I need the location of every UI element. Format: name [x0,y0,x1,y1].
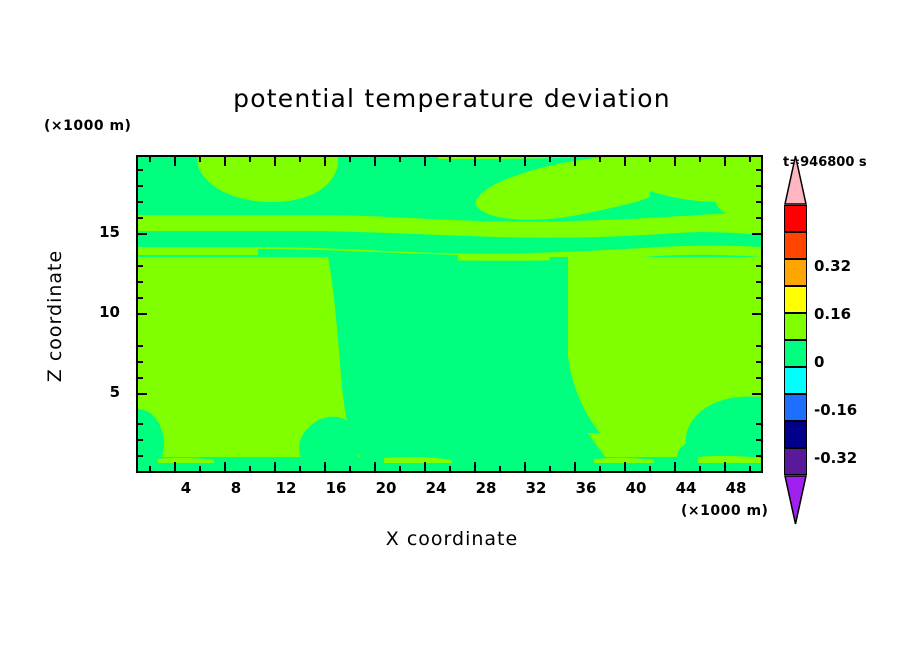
y-tick-label: 10 [86,303,120,321]
x-tick-major [224,462,226,471]
x-tick-top-minor [199,157,201,162]
x-tick-top-major [274,157,276,166]
x-tick-top-minor [749,157,751,162]
y-tick-right-minor [756,265,761,267]
y-tick-right-minor [756,361,761,363]
y-tick-minor [138,185,143,187]
y-tick-minor [138,423,143,425]
x-axis-title: X coordinate [0,528,904,550]
y-tick-right-minor [756,281,761,283]
x-tick-minor [349,466,351,471]
x-tick-top-minor [449,157,451,162]
x-tick-label: 12 [266,479,306,497]
y-tick-label: 5 [86,383,120,401]
colorbar-band [784,448,807,475]
colorbar-band [784,367,807,394]
x-tick-top-minor [549,157,551,162]
x-tick-top-minor [349,157,351,162]
x-tick-major [574,462,576,471]
y-tick-minor [138,265,143,267]
contour-plot-area [136,155,763,473]
y-tick-minor [138,439,143,441]
y-tick-right-minor [756,345,761,347]
colorbar-band [784,340,807,367]
contour-field [138,157,761,471]
x-tick-label: 4 [166,479,206,497]
x-tick-minor [649,466,651,471]
colorbar-band [784,286,807,313]
colorbar-top-cap [784,155,807,205]
x-tick-minor [749,466,751,471]
y-tick-right-minor [756,169,761,171]
x-tick-top-major [224,157,226,166]
colorbar-band [784,394,807,421]
y-tick-right-minor [756,297,761,299]
y-tick-major [138,313,147,315]
x-tick-major [474,462,476,471]
colorbar-band [784,232,807,259]
colorbar-label: 0.16 [814,305,851,323]
x-tick-minor [199,466,201,471]
x-tick-top-minor [249,157,251,162]
colorbar-label: 0 [814,353,824,371]
chart-title: potential temperature deviation [0,84,904,113]
y-tick-right-minor [756,455,761,457]
x-tick-minor [449,466,451,471]
y-tick-right-minor [756,185,761,187]
x-tick-top-major [474,157,476,166]
x-tick-label: 40 [616,479,656,497]
y-tick-right-major [752,393,761,395]
x-tick-label: 28 [466,479,506,497]
x-tick-major [524,462,526,471]
y-tick-minor [138,201,143,203]
x-tick-minor [699,466,701,471]
y-tick-minor [138,281,143,283]
y-tick-right-minor [756,439,761,441]
colorbar-band [784,313,807,340]
y-tick-right-minor [756,377,761,379]
x-tick-top-major [574,157,576,166]
x-tick-top-minor [649,157,651,162]
x-tick-minor [599,466,601,471]
y-axis-title: Z coordinate [44,206,66,426]
x-tick-top-minor [599,157,601,162]
colorbar-label: -0.16 [814,401,857,419]
x-tick-top-minor [299,157,301,162]
y-tick-minor [138,297,143,299]
x-tick-major [174,462,176,471]
y-axis-unit-label: (×1000 m) [44,118,131,134]
x-tick-top-major [324,157,326,166]
x-tick-top-major [524,157,526,166]
x-tick-top-minor [149,157,151,162]
x-tick-top-major [624,157,626,166]
x-axis-unit-label: (×1000 m) [681,503,768,519]
y-tick-right-minor [756,423,761,425]
x-tick-top-minor [699,157,701,162]
x-tick-minor [149,466,151,471]
y-tick-minor [138,217,143,219]
colorbar-bottom-cap [784,475,807,525]
y-tick-major [138,233,147,235]
x-tick-label: 36 [566,479,606,497]
y-tick-right-major [752,313,761,315]
x-tick-top-minor [399,157,401,162]
x-tick-top-major [724,157,726,166]
x-tick-label: 24 [416,479,456,497]
x-tick-label: 8 [216,479,256,497]
colorbar-band [784,205,807,232]
y-tick-right-major [752,233,761,235]
x-tick-major [674,462,676,471]
colorbar-band [784,259,807,286]
x-tick-minor [249,466,251,471]
y-tick-label: 15 [86,223,120,241]
x-tick-major [424,462,426,471]
y-tick-right-minor [756,201,761,203]
y-tick-minor [138,361,143,363]
x-tick-label: 20 [366,479,406,497]
y-tick-minor [138,345,143,347]
colorbar: 0.32 0.16 0 -0.16 -0.32 [784,205,807,473]
colorbar-label: 0.32 [814,257,851,275]
x-tick-top-major [174,157,176,166]
x-tick-minor [299,466,301,471]
x-tick-label: 32 [516,479,556,497]
x-tick-label: 16 [316,479,356,497]
x-tick-major [374,462,376,471]
y-tick-right-minor [756,217,761,219]
x-tick-top-major [674,157,676,166]
y-tick-minor [138,455,143,457]
x-tick-major [624,462,626,471]
y-tick-major [138,393,147,395]
x-tick-major [724,462,726,471]
y-tick-minor [138,169,143,171]
x-tick-label: 44 [666,479,706,497]
x-tick-top-major [374,157,376,166]
x-tick-minor [549,466,551,471]
x-tick-top-minor [499,157,501,162]
x-tick-top-major [424,157,426,166]
x-tick-minor [399,466,401,471]
y-tick-minor [138,377,143,379]
colorbar-label: -0.32 [814,449,857,467]
x-tick-label: 48 [716,479,756,497]
colorbar-band [784,421,807,448]
x-tick-major [324,462,326,471]
x-tick-major [274,462,276,471]
x-tick-minor [499,466,501,471]
